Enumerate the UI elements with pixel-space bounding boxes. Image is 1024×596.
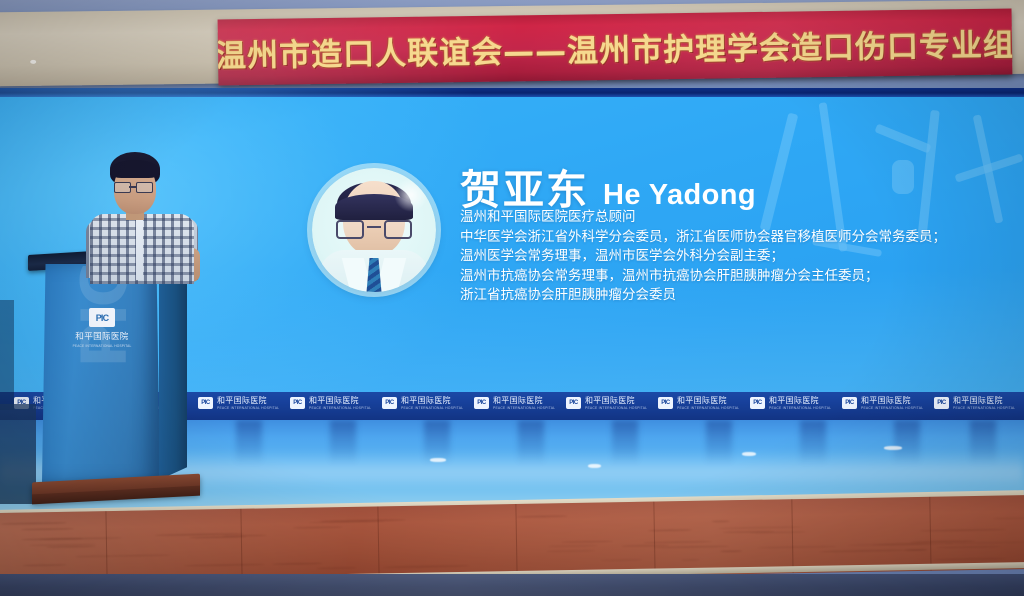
sponsor-logo-name-en: PEACE INTERNATIONAL HOSPITAL bbox=[401, 407, 463, 410]
sponsor-logo-mark: PIC bbox=[290, 397, 305, 409]
sponsor-logo-item: PIC和平国际医院PEACE INTERNATIONAL HOSPITAL bbox=[566, 397, 647, 410]
sponsor-logo-name-en: PEACE INTERNATIONAL HOSPITAL bbox=[309, 407, 371, 410]
podium-logo-name-en: PEACE INTERNATIONAL HOSPITAL bbox=[72, 344, 132, 348]
podium: PIC PIC 和平国际医院 PEACE INTERNATIONAL HOSPI… bbox=[28, 250, 213, 510]
sponsor-logo-name-cn: 和平国际医院 bbox=[861, 397, 923, 405]
sponsor-logo-name-cn: 和平国际医院 bbox=[493, 397, 555, 405]
sponsor-logo-name-en: PEACE INTERNATIONAL HOSPITAL bbox=[585, 407, 647, 410]
sponsor-logo-name-en: PEACE INTERNATIONAL HOSPITAL bbox=[861, 407, 923, 410]
bio-line: 温州和平国际医院医疗总顾问 bbox=[460, 208, 1010, 228]
sponsor-logo-mark: PIC bbox=[842, 397, 857, 409]
conference-stage-photo: 温州市造口人联谊会——温州市护理学会造口伤口专业组 bbox=[0, 0, 1024, 596]
venue-ground bbox=[0, 574, 1024, 596]
sponsor-logo-name-cn: 和平国际医院 bbox=[309, 397, 371, 405]
bio-line: 温州医学会常务理事，温州市医学会外科分会副主委； bbox=[460, 247, 1010, 267]
bio-line: 温州市抗癌协会常务理事，温州市抗癌协会肝胆胰肿瘤分会主任委员； bbox=[460, 267, 1010, 287]
sponsor-logo-item: PIC和平国际医院PEACE INTERNATIONAL HOSPITAL bbox=[750, 397, 831, 410]
podium-logo-name-cn: 和平国际医院 bbox=[72, 330, 132, 342]
sponsor-logo-mark: PIC bbox=[934, 397, 949, 409]
sponsor-logo-name-en: PEACE INTERNATIONAL HOSPITAL bbox=[677, 407, 739, 410]
stage-left-shadow-upper bbox=[0, 300, 14, 410]
wood-grain-line bbox=[681, 558, 699, 560]
podium-logo: PIC 和平国际医院 PEACE INTERNATIONAL HOSPITAL bbox=[72, 308, 132, 348]
sponsor-logo-name-cn: 和平国际医院 bbox=[217, 397, 279, 405]
presenter-person bbox=[86, 152, 198, 282]
sponsor-logo-name-cn: 和平国际医院 bbox=[769, 397, 831, 405]
sponsor-logo-item: PIC和平国际医院PEACE INTERNATIONAL HOSPITAL bbox=[290, 397, 371, 410]
wood-grain-line bbox=[905, 548, 928, 550]
sponsor-logo-name-cn: 和平国际医院 bbox=[677, 397, 739, 405]
sponsor-logo-name-cn: 和平国际医院 bbox=[953, 397, 1015, 405]
sponsor-logo-name-en: PEACE INTERNATIONAL HOSPITAL bbox=[493, 407, 555, 410]
sponsor-logo-name-en: PEACE INTERNATIONAL HOSPITAL bbox=[769, 407, 831, 410]
sponsor-logo-mark: PIC bbox=[566, 397, 581, 409]
sponsor-logo-name-cn: 和平国际医院 bbox=[585, 397, 647, 405]
sponsor-logo-mark: PIC bbox=[658, 397, 673, 409]
event-banner: 温州市造口人联谊会——温州市护理学会造口伤口专业组 bbox=[218, 8, 1013, 85]
podium-side-panel bbox=[159, 268, 187, 480]
sponsor-logo-item: PIC和平国际医院PEACE INTERNATIONAL HOSPITAL bbox=[474, 397, 555, 410]
sponsor-logo-item: PIC和平国际医院PEACE INTERNATIONAL HOSPITAL bbox=[382, 397, 463, 410]
sponsor-logo-mark: PIC bbox=[474, 397, 489, 409]
speaker-name-chinese: 贺亚东 bbox=[460, 156, 589, 216]
sponsor-logo-item: PIC和平国际医院PEACE INTERNATIONAL HOSPITAL bbox=[842, 397, 923, 410]
sponsor-logo-item: PIC和平国际医院PEACE INTERNATIONAL HOSPITAL bbox=[934, 397, 1015, 410]
speaker-portrait-avatar bbox=[312, 168, 436, 292]
speaker-bio-block: 温州和平国际医院医疗总顾问 中华医学会浙江省外科学分会委员，浙江省医师协会器官移… bbox=[460, 208, 1010, 306]
podium-logo-mark: PIC bbox=[89, 308, 115, 327]
sponsor-logo-mark: PIC bbox=[750, 397, 765, 409]
event-banner-text: 温州市造口人联谊会——温州市护理学会造口伤口专业组 bbox=[218, 19, 1013, 75]
sponsor-logo-name-en: PEACE INTERNATIONAL HOSPITAL bbox=[953, 407, 1015, 410]
sponsor-logo-mark: PIC bbox=[382, 397, 397, 409]
bio-line: 中华医学会浙江省外科学分会委员，浙江省医师协会器官移植医师分会常务委员； bbox=[460, 228, 1010, 248]
sponsor-logo-name-en: PEACE INTERNATIONAL HOSPITAL bbox=[217, 407, 279, 410]
speaker-name-row: 贺亚东 He Yadong bbox=[460, 156, 756, 216]
bio-line: 浙江省抗癌协会肝胆胰肿瘤分会委员 bbox=[460, 286, 1010, 306]
sponsor-logo-name-cn: 和平国际医院 bbox=[401, 397, 463, 405]
sponsor-logo-item: PIC和平国际医院PEACE INTERNATIONAL HOSPITAL bbox=[658, 397, 739, 410]
